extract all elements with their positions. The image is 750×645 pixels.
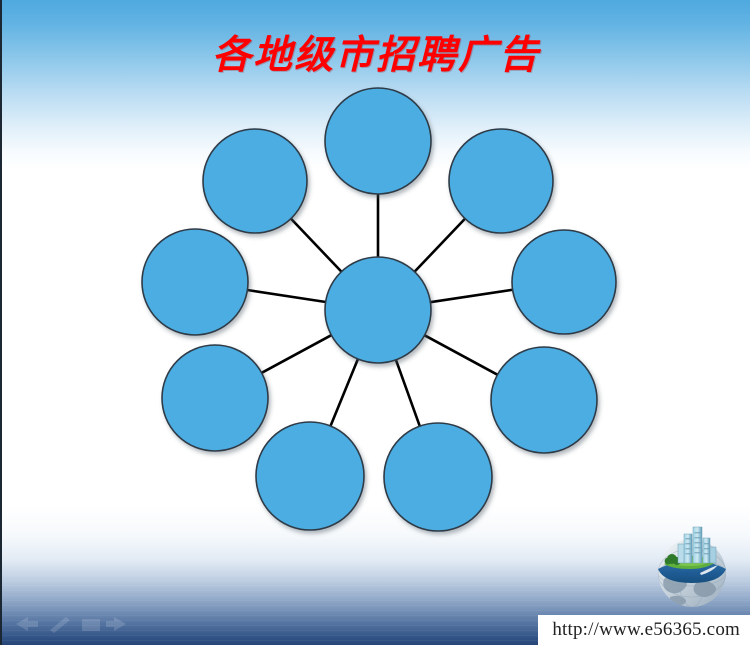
node-left[interactable] — [142, 229, 248, 335]
slide-canvas: 各地级市招聘广告 — [0, 0, 750, 645]
connector-node-bottom-left-low — [330, 358, 358, 427]
connector-node-bottom-right — [424, 335, 499, 375]
watermark-url: http://www.e56365.com — [552, 619, 740, 641]
node-bottom-right-low[interactable] — [384, 423, 492, 531]
connector-node-bottom-right-low — [396, 359, 421, 427]
url-watermark-bar: http://www.e56365.com — [538, 615, 750, 645]
diagram-nodes — [142, 88, 616, 531]
connector-node-bottom-left — [261, 335, 332, 374]
connector-node-top-right — [414, 218, 466, 273]
center-node[interactable] — [325, 257, 431, 363]
node-top[interactable] — [325, 88, 431, 194]
hub-and-spoke-diagram — [2, 0, 750, 645]
diagram-canvas — [2, 0, 750, 645]
node-bottom-left[interactable] — [162, 345, 268, 451]
node-bottom-right[interactable] — [491, 347, 597, 453]
node-bottom-left-low[interactable] — [256, 422, 364, 530]
node-top-right[interactable] — [449, 129, 553, 233]
node-top-left[interactable] — [203, 129, 307, 233]
connector-node-left — [246, 290, 326, 302]
connector-node-right — [429, 290, 513, 303]
globe-city-logo — [640, 517, 744, 607]
connector-node-top-left — [290, 218, 342, 273]
node-right[interactable] — [512, 230, 616, 334]
